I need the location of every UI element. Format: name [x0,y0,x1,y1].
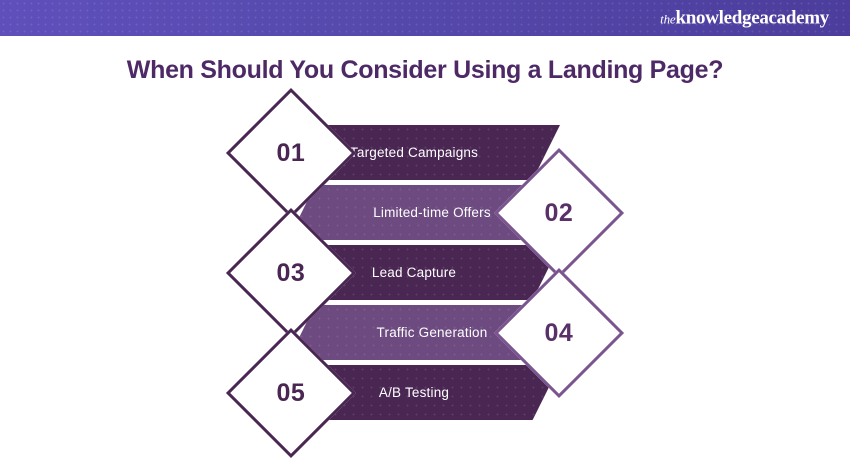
step-label: A/B Testing [379,385,449,400]
step-number: 02 [545,199,574,228]
page-title: When Should You Consider Using a Landing… [0,56,850,85]
steps-flow-diagram: Targeted Campaigns01Limited-time Offers0… [0,107,850,427]
step-number: 03 [277,259,306,288]
step-number-diamond[interactable]: 05 [226,328,356,458]
step-number: 04 [545,319,574,348]
step-label: Lead Capture [372,265,456,280]
step-label: Targeted Campaigns [350,145,478,160]
header-bar: theknowledgeacademy [0,0,850,36]
brand-logo[interactable]: theknowledgeacademy [660,9,829,28]
step-row[interactable]: A/B Testing05 [0,347,850,439]
brand-logo-name: knowledgeacademy [675,8,829,29]
brand-logo-prefix: the [660,12,675,27]
step-number: 01 [277,139,306,168]
step-label: Traffic Generation [377,325,488,340]
step-number: 05 [277,379,306,408]
step-label: Limited-time Offers [373,205,491,220]
